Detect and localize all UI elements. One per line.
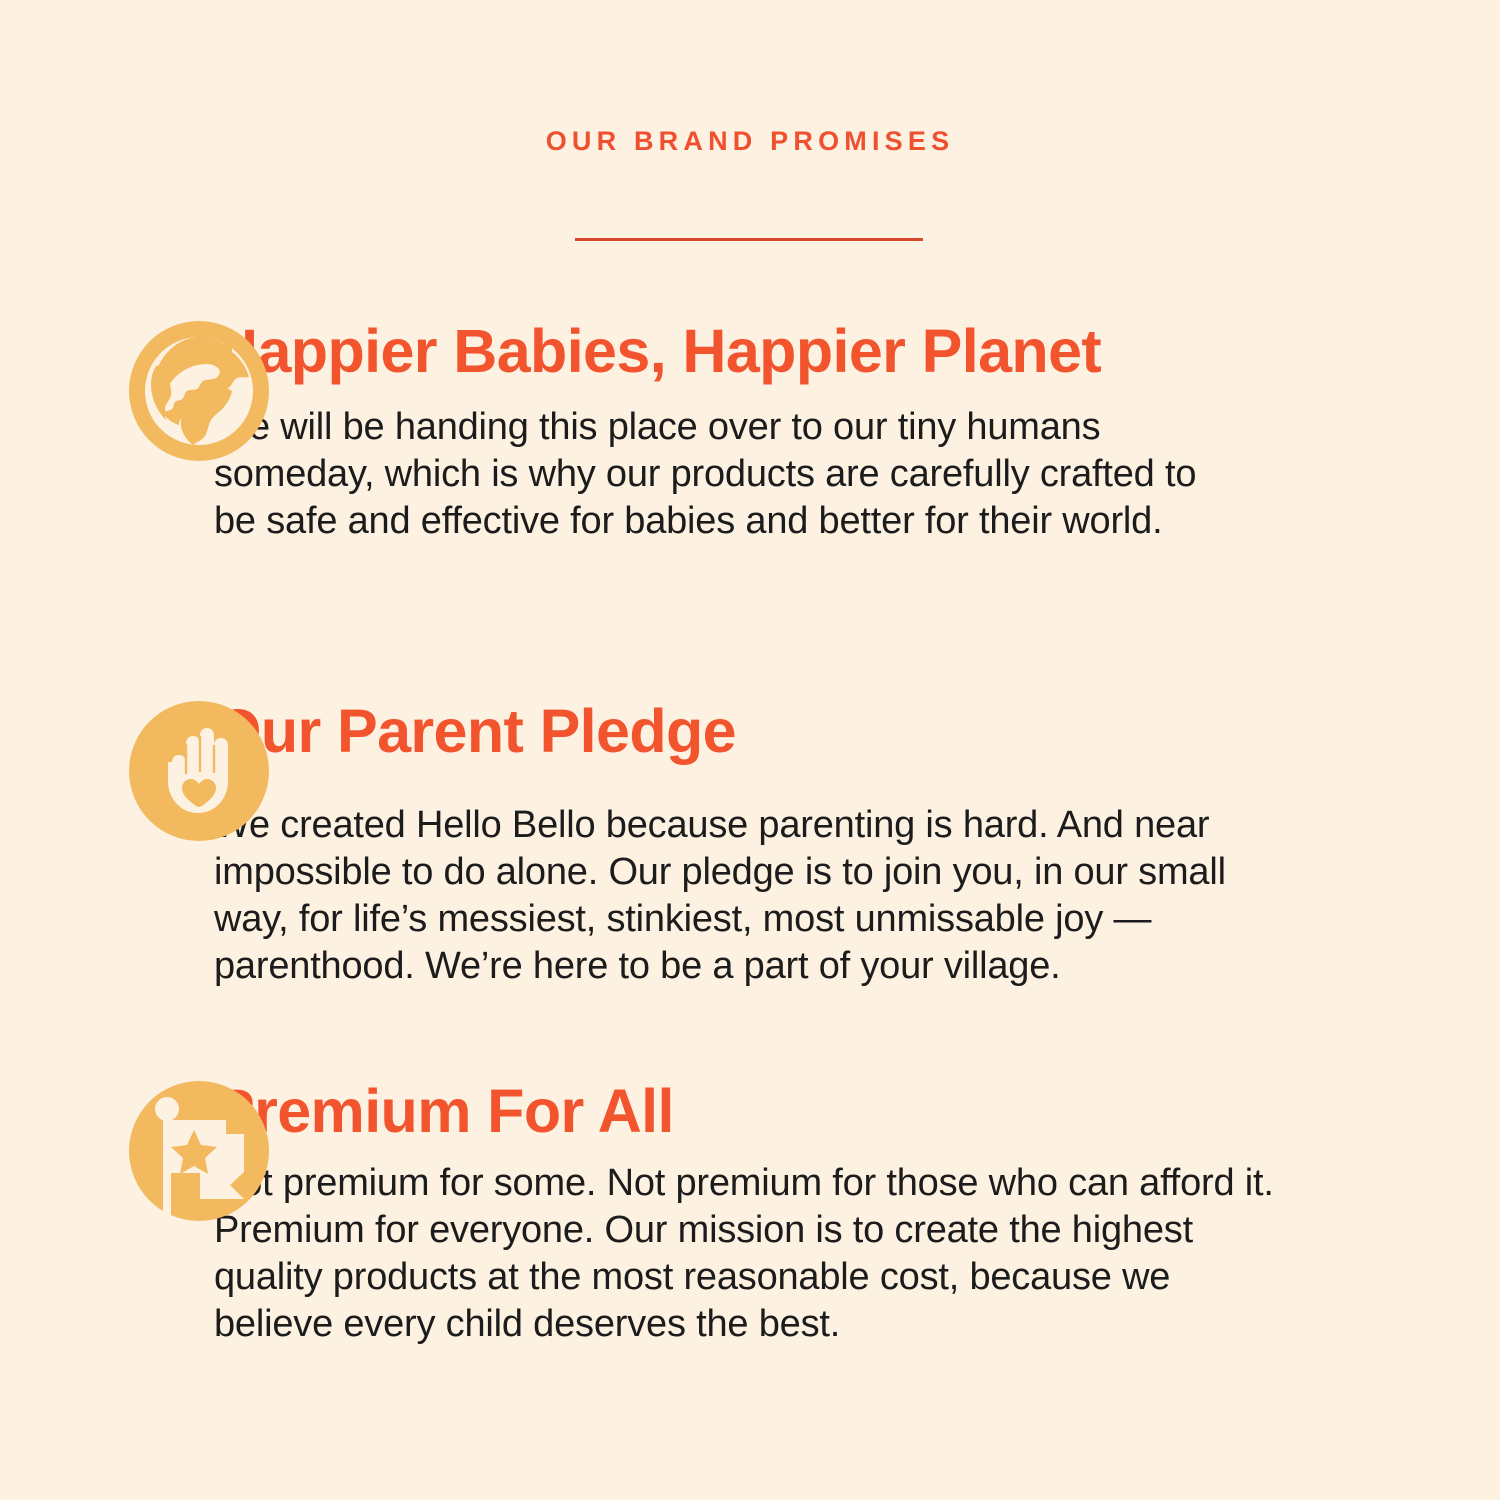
hand-heart-icon xyxy=(128,700,270,842)
promise-text-column: Happier Babies, Happier Planet We will b… xyxy=(172,320,1500,545)
promise-section-our-parent-pledge: Our Parent Pledge We created Hello Bello… xyxy=(0,700,1500,990)
header-divider xyxy=(575,238,923,241)
promise-section-happier-babies-happier-planet: Happier Babies, Happier Planet We will b… xyxy=(0,320,1500,545)
promise-title: Happier Babies, Happier Planet xyxy=(214,320,1380,382)
promise-section-premium-for-all: Premium For All Not premium for some. No… xyxy=(0,1080,1500,1348)
page-header: OUR BRAND PROMISES xyxy=(0,128,1500,155)
promise-icon-column xyxy=(0,1080,172,1222)
promise-text-column: Premium For All Not premium for some. No… xyxy=(172,1080,1500,1348)
eyebrow-heading: OUR BRAND PROMISES xyxy=(0,128,1500,155)
promise-title: Our Parent Pledge xyxy=(214,700,1380,762)
brand-promises-page: OUR BRAND PROMISES Happier Babies, Happi… xyxy=(0,0,1500,1500)
promise-body: Not premium for some. Not premium for th… xyxy=(214,1160,1274,1348)
flag-star-icon xyxy=(128,1080,270,1222)
promise-title: Premium For All xyxy=(214,1080,1380,1142)
promise-icon-column xyxy=(0,700,172,842)
promise-text-column: Our Parent Pledge We created Hello Bello… xyxy=(172,700,1500,990)
promise-body: We created Hello Bello because parenting… xyxy=(214,802,1284,990)
globe-icon xyxy=(128,320,270,462)
promise-icon-column xyxy=(0,320,172,462)
promise-body: We will be handing this place over to ou… xyxy=(214,404,1214,545)
